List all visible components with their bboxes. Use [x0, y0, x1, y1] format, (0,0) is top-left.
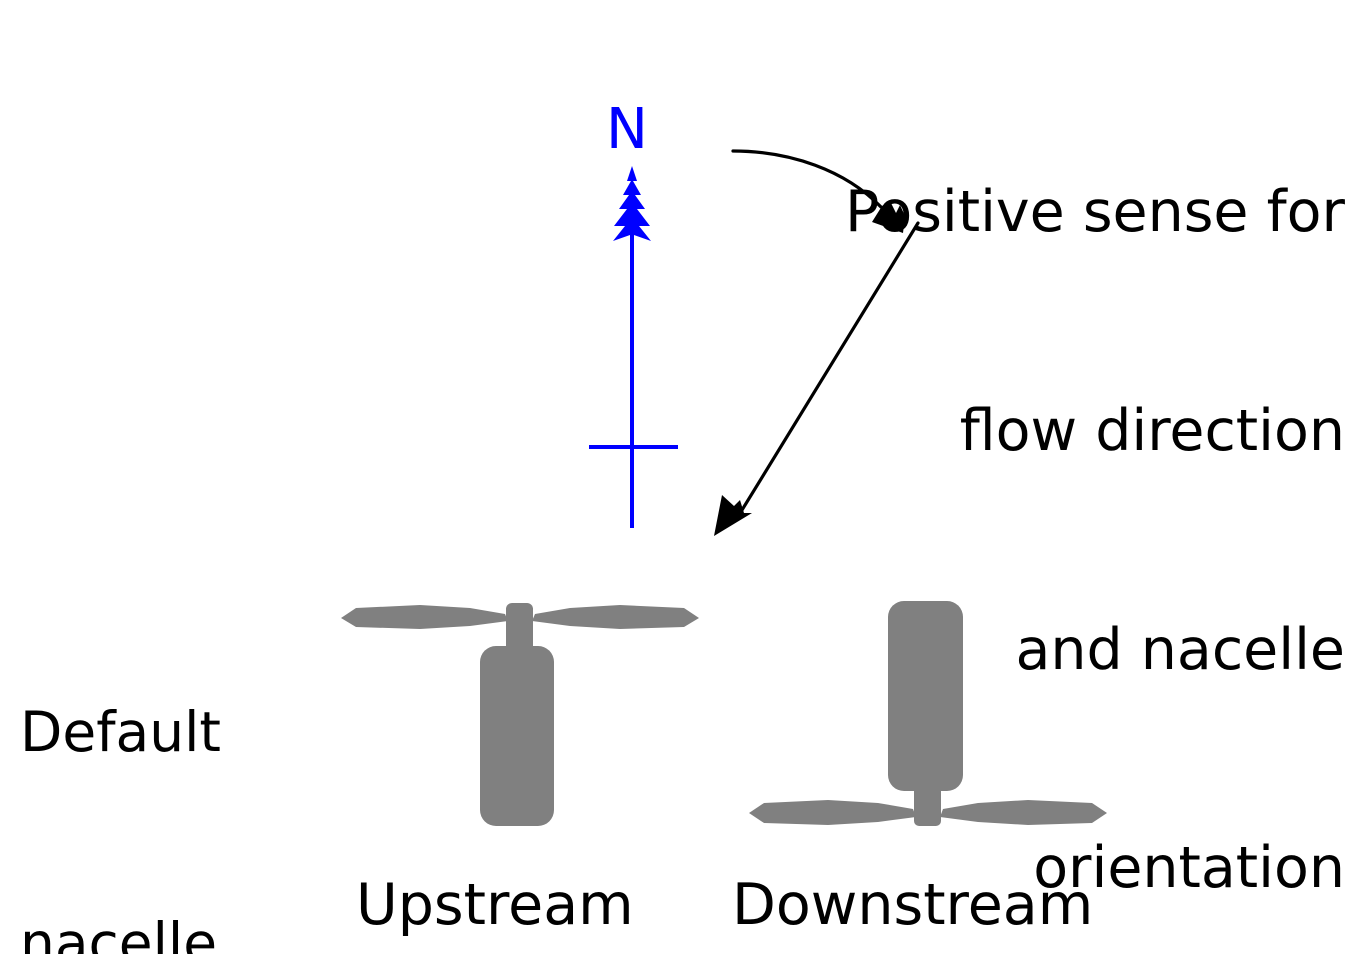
diagram-canvas: N	[0, 0, 1371, 954]
turbine-upstream	[341, 603, 699, 826]
annotation-positive-sense: Positive sense for flow direction and na…	[845, 30, 1345, 954]
upstream-rotor-blade-right	[532, 605, 699, 629]
annotation-default-nacelle-line-1: Default	[20, 697, 321, 767]
annotation-default-nacelle: Default nacelle orientation	[20, 556, 321, 954]
upstream-rotor-blade-left	[341, 605, 508, 629]
upstream-nacelle-body	[480, 646, 554, 826]
turbine-label-downstream: Downstream	[732, 869, 1093, 942]
north-label: N	[606, 97, 648, 162]
annotation-positive-sense-line-3: and nacelle	[845, 614, 1345, 687]
turbine-label-upstream: Upstream	[356, 869, 634, 942]
upstream-rotor-hub	[506, 603, 533, 655]
annotation-positive-sense-line-1: Positive sense for	[845, 176, 1345, 249]
annotation-positive-sense-line-2: flow direction	[845, 395, 1345, 468]
north-arrow-head-icon	[613, 166, 651, 245]
straight-sense-arrow-head-icon	[714, 495, 752, 536]
annotation-default-nacelle-line-2: nacelle	[20, 908, 321, 954]
